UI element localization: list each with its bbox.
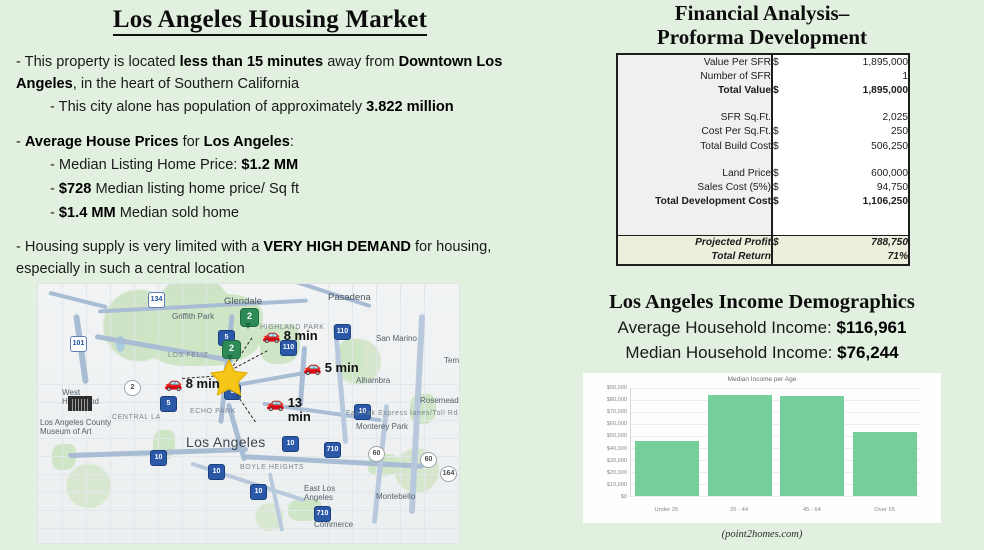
route-shield-101-icon: 101 [70,336,87,352]
table-row: Total Value $ 1,895,000 [618,83,908,97]
chart-x-axis-labels: Under 2525 - 4445 - 64Over 65 [630,507,921,513]
map-label-lacma: Los Angeles CountyMuseum of Art [40,418,111,436]
bullet-emph: Los Angeles [204,134,290,150]
location-map[interactable]: 134 101 5 5 110 110 10 10 10 10 10 5 710… [37,283,460,544]
row-label: SFR Sq.Ft. [618,111,772,125]
chart-y-tick-label: $0 [621,494,627,500]
proforma-table-body: Value Per SFR $ 1,895,000 Number of SFR … [618,55,908,264]
proforma-table: Value Per SFR $ 1,895,000 Number of SFR … [616,53,910,266]
bullet-text: - This property is located [16,54,180,70]
car-icon: 🚗 [164,376,183,391]
bullet-text: Median sold home [116,205,239,221]
route-shield-710-icon: 710 [324,442,341,458]
row-value: 600,000 [797,166,908,180]
drive-time-label: 8 min [186,376,220,391]
median-household-income: Median Household Income: $76,244 [540,343,984,363]
spacer [16,121,528,132]
page-title: Los Angeles Housing Market [0,6,540,34]
map-label-alhambra: Alhambra [356,376,390,385]
map-label-pasadena: Pasadena [328,292,371,303]
map-street [38,474,459,475]
row-currency: $ [772,195,797,209]
right-column: Financial Analysis– Proforma Development… [540,0,984,550]
average-income-value: $116,961 [836,318,906,337]
map-label-monterey-park: Monterey Park [356,422,408,431]
row-value: 506,250 [797,139,908,153]
housing-bullets: - This property is located less than 15 … [16,52,528,282]
bullet-text: , in the heart of Southern California [73,76,299,92]
bullet-median-sold: - $1.4 MM Median sold home [16,203,528,225]
bullet-text: away from [323,54,398,70]
route-shield-2-icon: 2 [124,380,141,396]
map-label-commerce: Commerce [314,520,353,529]
chart-y-tick-label: $70,000 [607,409,627,415]
financial-title-line2: Proforma Development [540,26,984,50]
map-label-temp: Temp [444,356,460,365]
chart-y-tick-label: $50,000 [607,433,627,439]
row-currency [772,250,797,264]
row-currency: $ [772,83,797,97]
bullet-text: - This city alone has population of appr… [50,99,366,115]
map-label-montebello: Montebello [376,492,415,501]
map-label-toll-road: FasTrak Express lanes/Toll Rd [346,410,458,417]
bullet-median-listing: - Median Listing Home Price: $1.2 MM [16,155,528,177]
map-street [62,284,63,543]
bullet-text: for [179,134,204,150]
map-label-echo-park: ECHO PARK [190,408,236,415]
route-shield-60-icon: 60 [420,452,437,468]
chart-bar-column [708,388,772,496]
chart-x-tick-label: 25 - 44 [707,507,771,513]
row-value: 71% [797,250,908,264]
bullet-avg-prices: - Average House Prices for Los Angeles: [16,132,528,154]
bullet-emph: Average House Prices [25,134,179,150]
bullet-location: - This property is located less than 15 … [16,52,528,95]
page-title-text: Los Angeles Housing Market [113,6,427,36]
bullet-text: - [50,181,59,197]
map-street [38,510,459,511]
row-currency [772,111,797,125]
row-currency: $ [772,125,797,139]
map-label-glendale: Glendale [224,296,262,307]
chart-gridline: $0 [631,496,921,497]
row-value: 94,750 [797,180,908,194]
row-value: 788,750 [797,235,908,250]
drive-time-8min-west: 🚗 8 min [164,376,220,391]
chart-bar [635,441,699,496]
financial-analysis-title: Financial Analysis– Proforma Development [540,2,984,49]
median-income-chart: Median Income per Age $0$10,000$20,000$3… [583,373,941,523]
left-column: Los Angeles Housing Market - This proper… [0,0,540,550]
chart-y-tick-label: $60,000 [607,421,627,427]
table-spacer-row [618,209,908,222]
chart-y-tick-label: $30,000 [607,458,627,464]
bullet-text: - [16,134,25,150]
map-street [38,402,459,403]
bullet-supply-demand: - Housing supply is very limited with a … [16,237,528,280]
chart-y-tick-label: $90,000 [607,385,627,391]
drive-time-label: 8 min [284,328,318,343]
row-value: 1,895,000 [797,83,908,97]
row-currency: $ [772,180,797,194]
car-icon: 🚗 [303,360,322,375]
table-row: Cost Per Sq.Ft. $ 250 [618,125,908,139]
row-value: 250 [797,125,908,139]
map-label-east-la: East LosAngeles [304,484,335,502]
map-label-boyle-heights: BOYLE HEIGHTS [240,464,304,471]
drive-time-8min-north: 🚗 8 min [262,328,318,343]
table-row: Total Build Cost $ 506,250 [618,139,908,153]
chart-bar [853,432,917,496]
chart-y-tick-label: $20,000 [607,470,627,476]
financial-title-line1: Financial Analysis– [540,2,984,26]
transit-pin-2[interactable]: 2 [240,308,257,329]
chart-bar [708,395,772,496]
bullet-text: - Median Listing Home Price: [50,157,241,173]
chart-title: Median Income per Age [583,376,941,383]
map-label-central-la: CENTRAL LA [112,414,161,421]
bullet-price-per-sqft: - $728 Median listing home price/ Sq ft [16,179,528,201]
spacer [16,226,528,237]
chart-y-tick-label: $40,000 [607,446,627,452]
drive-time-label: 5 min [325,360,359,375]
chart-bar-column [853,388,917,496]
average-household-income: Average Household Income: $116,961 [540,318,984,338]
bullet-emph: less than 15 minutes [180,54,324,70]
route-shield-10-icon: 10 [150,450,167,466]
table-row: Number of SFR 1 [618,69,908,83]
drive-time-label: 13 min [288,396,322,423]
table-row: Sales Cost (5%) $ 94,750 [618,180,908,194]
table-spacer-row [618,222,908,236]
route-shield-10-icon: 10 [208,464,225,480]
chart-x-tick-label: 45 - 64 [780,507,844,513]
income-demographics-title: Los Angeles Income Demographics [540,291,984,314]
route-shield-10-icon: 10 [282,436,299,452]
row-label: Total Development Cost [618,195,772,209]
row-label: Number of SFR [618,69,772,83]
route-shield-5-icon: 5 [160,396,177,412]
row-label: Total Return [618,250,772,264]
map-label-los-angeles: Los Angeles [186,434,266,450]
average-income-label: Average Household Income: [618,318,837,337]
bullet-emph: $728 [59,181,91,197]
row-value: 1,895,000 [797,55,908,69]
slide-root: Los Angeles Housing Market - This proper… [0,0,984,550]
table-spacer-row [618,98,908,111]
map-street [86,284,87,543]
table-row: Value Per SFR $ 1,895,000 [618,55,908,69]
transit-pin-2[interactable]: 2 [222,340,239,361]
row-currency: $ [772,235,797,250]
bullet-text: - [50,205,59,221]
museum-building-icon [68,396,92,411]
median-income-label: Median Household Income: [625,343,837,362]
bullet-text: Median listing home price/ Sq ft [91,181,299,197]
map-street [110,284,111,543]
route-shield-60-icon: 60 [368,446,385,462]
map-label-griffith-park: Griffith Park [172,312,214,321]
chart-plot-area: $0$10,000$20,000$30,000$40,000$50,000$60… [630,388,921,497]
chart-bar-column [635,388,699,496]
route-shield-134-icon: 134 [148,292,165,308]
bullet-text: : [290,134,294,150]
chart-y-tick-label: $10,000 [607,482,627,488]
table-row: Land Price $ 600,000 [618,166,908,180]
bullet-emph: $1.4 MM [59,205,116,221]
pin-tip [245,323,251,329]
table-row-projected-profit: Projected Profit $ 788,750 [618,235,908,250]
car-icon: 🚗 [266,396,285,411]
map-canvas: 134 101 5 5 110 110 10 10 10 10 10 5 710… [38,284,459,543]
chart-x-tick-label: Under 25 [634,507,698,513]
chart-y-tick-label: $80,000 [607,397,627,403]
row-currency: $ [772,166,797,180]
bullet-emph: 3.822 million [366,99,454,115]
map-street [38,528,459,529]
row-currency: $ [772,139,797,153]
map-label-san-marino: San Marino [376,334,417,343]
chart-x-tick-label: Over 65 [853,507,917,513]
map-street [182,284,183,543]
bullet-emph: $1.2 MM [241,157,298,173]
drive-time-5min: 🚗 5 min [303,360,359,375]
row-currency [772,69,797,83]
map-label-los-feliz: LOS FELIZ [168,352,208,359]
car-icon: 🚗 [262,328,281,343]
table-row: Total Development Cost $ 1,106,250 [618,195,908,209]
route-shield-110-icon: 110 [334,324,351,340]
bullet-text: - Housing supply is very limited with a [16,239,263,255]
bullet-emph: VERY HIGH DEMAND [263,239,411,255]
chart-bar-column [780,388,844,496]
drive-time-13min: 🚗 13 min [266,396,322,423]
row-label: Total Build Cost [618,139,772,153]
row-label: Sales Cost (5%) [618,180,772,194]
table-spacer-row [618,153,908,166]
bullet-population: - This city alone has population of appr… [16,97,528,119]
row-currency: $ [772,55,797,69]
map-label-rosemead: Rosemead [420,396,459,405]
row-value: 2,025 [797,111,908,125]
table-row: SFR Sq.Ft. 2,025 [618,111,908,125]
route-shield-164-icon: 164 [440,466,457,482]
row-label: Cost Per Sq.Ft. [618,125,772,139]
row-label: Total Value [618,83,772,97]
row-label: Projected Profit [618,235,772,250]
route-shield-10-icon: 10 [250,484,267,500]
row-label: Value Per SFR [618,55,772,69]
row-value: 1,106,250 [797,195,908,209]
source-credit: (point2homes.com) [540,529,984,540]
chart-bar [780,396,844,496]
row-value: 1 [797,69,908,83]
chart-bars [631,388,921,496]
median-income-value: $76,244 [837,343,898,362]
table-row-total-return: Total Return 71% [618,250,908,264]
row-label: Land Price [618,166,772,180]
